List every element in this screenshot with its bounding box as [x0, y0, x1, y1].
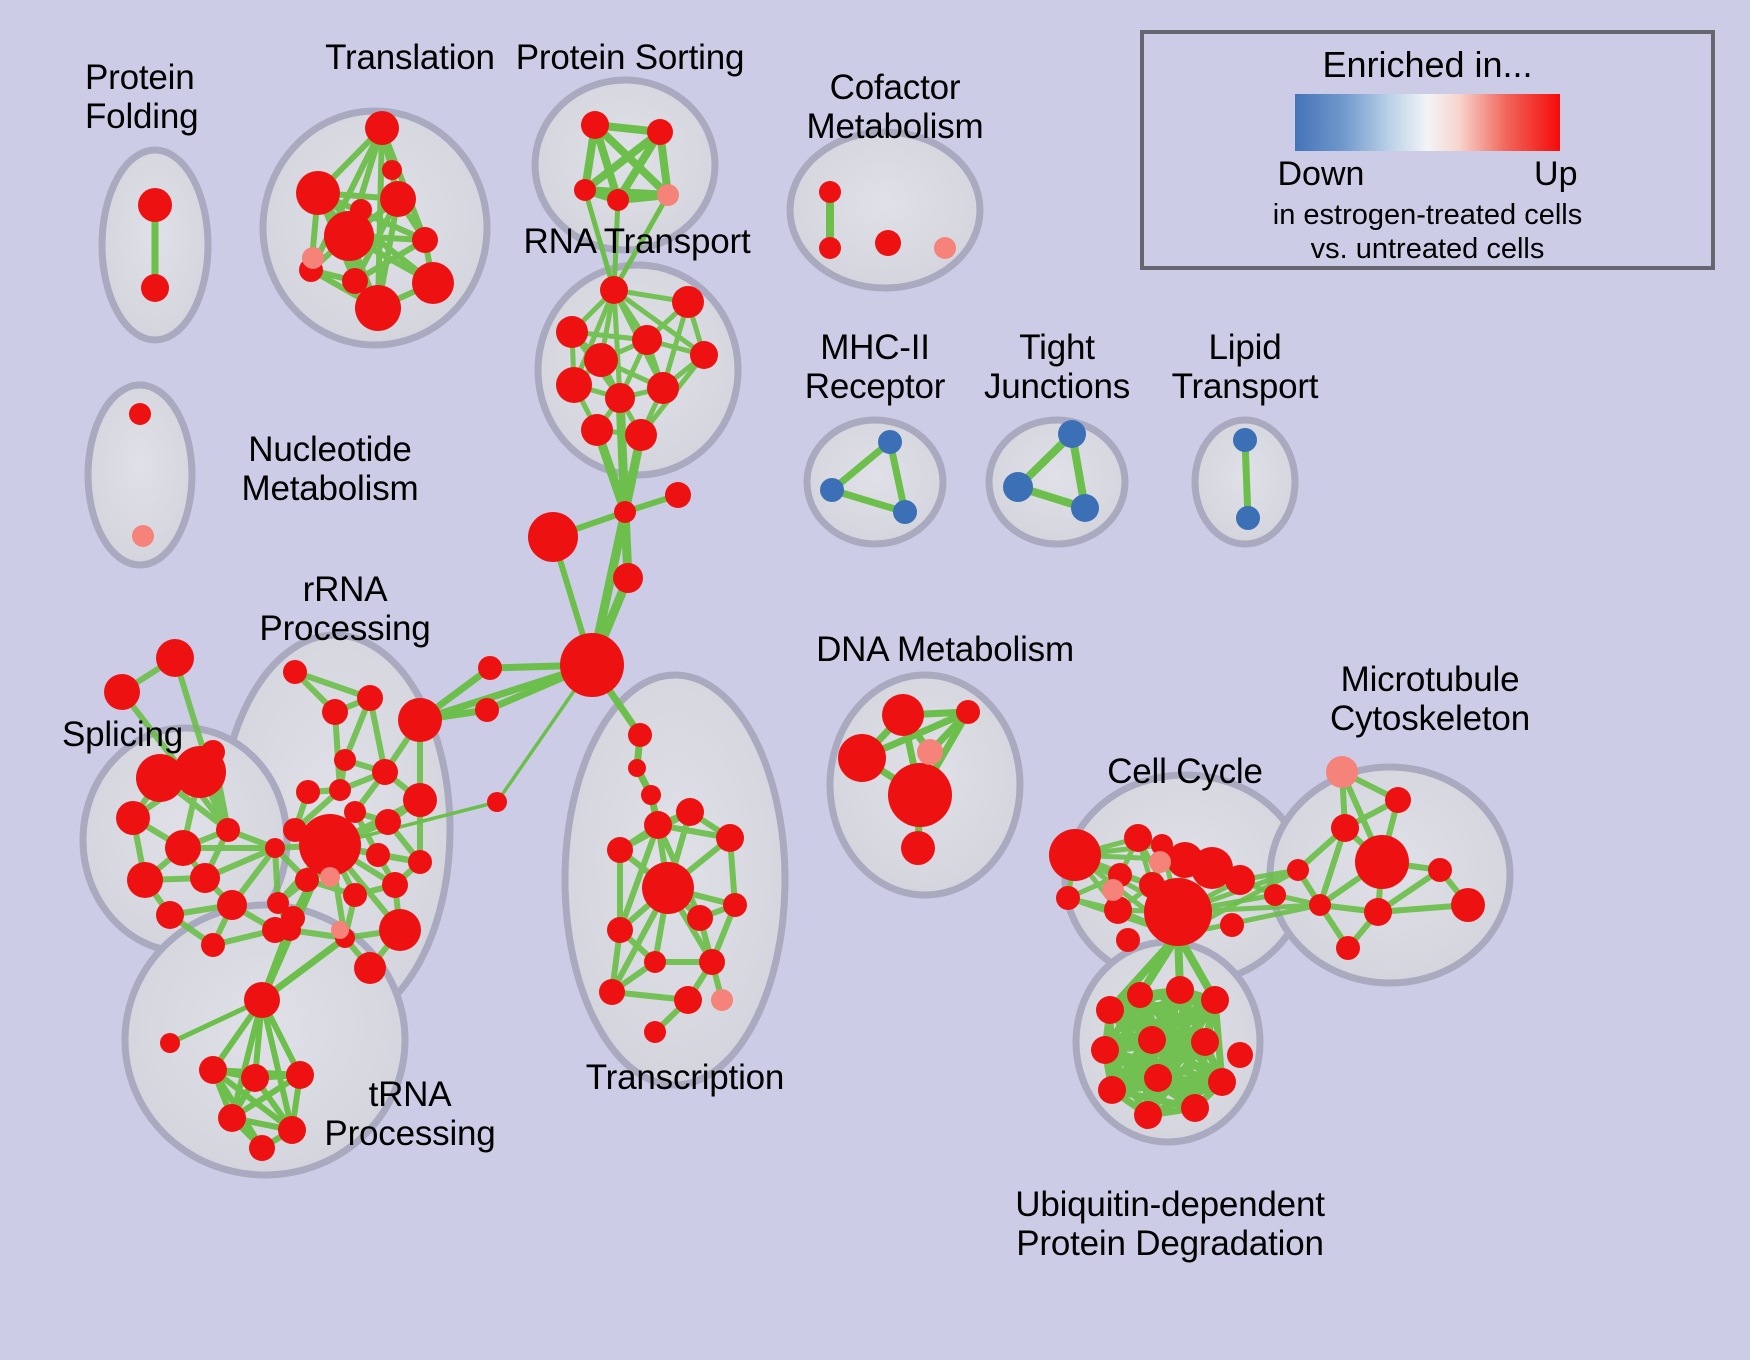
node [354, 952, 386, 984]
node [556, 367, 592, 403]
node [283, 660, 307, 684]
node [1355, 835, 1409, 889]
node [607, 917, 633, 943]
node [1102, 879, 1124, 901]
node [365, 111, 399, 145]
node [331, 921, 349, 939]
legend-panel: Enriched in... Down Up in estrogen-treat… [1140, 30, 1715, 270]
node [380, 181, 416, 217]
node [403, 783, 437, 817]
node [156, 639, 194, 677]
node [412, 262, 454, 304]
node [296, 780, 320, 804]
node [217, 890, 247, 920]
node [581, 111, 609, 139]
node [165, 830, 201, 866]
node [1385, 787, 1411, 813]
node [875, 230, 901, 256]
node [132, 525, 154, 547]
node [1091, 1036, 1119, 1064]
node [218, 1104, 246, 1132]
node [628, 723, 652, 747]
node [644, 1021, 666, 1043]
node [382, 160, 402, 180]
node [642, 862, 694, 914]
node [690, 341, 718, 369]
cluster-label-ubiquitin-protein-degradation: Ubiquitin-dependent Protein Degradation [985, 1185, 1355, 1263]
node [599, 979, 625, 1005]
cluster-label-cell-cycle: Cell Cycle [1085, 752, 1285, 791]
node [584, 343, 618, 377]
node [1166, 976, 1194, 1004]
node [607, 837, 633, 863]
node [375, 809, 401, 835]
cluster-label-rrna-processing: rRNA Processing [245, 570, 445, 648]
node [878, 430, 902, 454]
node [819, 181, 841, 203]
node [1451, 888, 1485, 922]
node [1144, 878, 1212, 946]
node [201, 933, 225, 957]
node [676, 798, 704, 826]
node [1124, 824, 1152, 852]
node [528, 512, 578, 562]
cluster-label-protein-sorting: Protein Sorting [505, 38, 755, 77]
node [934, 237, 956, 259]
node [1225, 865, 1255, 895]
node [716, 824, 744, 852]
node [475, 698, 499, 722]
node [302, 247, 324, 269]
node [628, 759, 646, 777]
node [487, 792, 507, 812]
node [199, 1056, 227, 1084]
node [1326, 756, 1358, 788]
cluster-label-microtubule-cytoskeleton: Microtubule Cytoskeleton [1295, 660, 1565, 738]
node [104, 674, 140, 710]
node [329, 779, 351, 801]
cluster-label-tight-junctions: Tight Junctions [967, 328, 1147, 406]
cluster-label-trna-processing: tRNA Processing [305, 1075, 515, 1153]
node [1227, 1042, 1253, 1068]
node [478, 656, 502, 680]
node [723, 893, 747, 917]
node [647, 372, 679, 404]
legend-title: Enriched in... [1322, 44, 1532, 86]
node [1236, 506, 1260, 530]
node [657, 184, 679, 206]
node [1127, 982, 1153, 1008]
legend-high-label: Up [1534, 155, 1577, 194]
node [917, 739, 943, 765]
node [127, 862, 163, 898]
node [614, 501, 636, 523]
node [556, 316, 588, 348]
node [1116, 928, 1140, 952]
node [1264, 884, 1286, 906]
network-canvas: Protein Folding Translation Protein Sort… [0, 0, 1750, 1360]
node [1233, 428, 1257, 452]
node [334, 749, 356, 771]
legend-endpoint-labels: Down Up [1278, 155, 1578, 194]
node [398, 698, 442, 742]
node [644, 811, 672, 839]
node [249, 1135, 275, 1161]
node [350, 199, 372, 221]
node [1049, 829, 1101, 881]
node [581, 414, 613, 446]
node [901, 831, 935, 865]
cluster-label-lipid-transport: Lipid Transport [1155, 328, 1335, 406]
node [160, 1033, 180, 1053]
node [1220, 913, 1244, 937]
node [241, 1064, 269, 1092]
node [1104, 896, 1132, 924]
node [1096, 996, 1124, 1024]
node [1134, 1101, 1162, 1129]
node [607, 189, 629, 211]
node [838, 734, 886, 782]
node [1056, 886, 1080, 910]
node [382, 872, 408, 898]
node [1191, 1028, 1219, 1056]
node [644, 951, 666, 973]
cluster-label-nucleotide-metabolism: Nucleotide Metabolism [205, 430, 455, 508]
node [1364, 898, 1392, 926]
node [216, 818, 240, 842]
node [156, 901, 184, 929]
node [190, 863, 220, 893]
node [1058, 420, 1086, 448]
node [600, 276, 628, 304]
node [641, 785, 661, 805]
node [1138, 1026, 1166, 1054]
node [560, 633, 624, 697]
node [1331, 814, 1359, 842]
legend-subtitle-line1: in estrogen-treated cells [1273, 198, 1583, 232]
node [672, 286, 704, 318]
node [296, 171, 340, 215]
node [265, 838, 285, 858]
node [366, 843, 390, 867]
node [665, 482, 691, 508]
node [1071, 494, 1099, 522]
node [1208, 1068, 1236, 1096]
node [116, 801, 150, 835]
node [355, 285, 401, 331]
cluster-label-transcription: Transcription [565, 1058, 805, 1097]
node [281, 906, 305, 930]
node [1309, 894, 1331, 916]
node [379, 909, 421, 951]
node [888, 763, 952, 827]
node [244, 982, 280, 1018]
node [343, 883, 367, 907]
node [129, 403, 151, 425]
node [1003, 472, 1033, 502]
node [882, 694, 924, 736]
node [820, 478, 844, 502]
cluster-label-protein-folding: Protein Folding [85, 58, 265, 136]
node [357, 685, 383, 711]
node [647, 119, 673, 145]
node [141, 274, 169, 302]
node [625, 419, 657, 451]
node [711, 989, 733, 1011]
hull-cofactor-metabolism [790, 132, 980, 288]
node [372, 759, 398, 785]
node [613, 563, 643, 593]
node [819, 237, 841, 259]
node [344, 801, 366, 823]
node [412, 227, 438, 253]
node [699, 949, 725, 975]
cluster-label-translation: Translation [295, 38, 525, 77]
cluster-label-cofactor-metabolism: Cofactor Metabolism [785, 68, 1005, 146]
node [1181, 1094, 1209, 1122]
node [605, 383, 635, 413]
node [574, 179, 596, 201]
node [1144, 1064, 1172, 1092]
legend-subtitle-line2: vs. untreated cells [1273, 232, 1583, 266]
node [956, 700, 980, 724]
legend-color-gradient-bar [1295, 94, 1560, 151]
legend-subtitle: in estrogen-treated cells vs. untreated … [1273, 198, 1583, 266]
node [278, 1116, 306, 1144]
cluster-label-rna-transport: RNA Transport [512, 222, 762, 261]
node [322, 699, 348, 725]
cluster-label-dna-metabolism: DNA Metabolism [805, 630, 1085, 669]
node [138, 188, 172, 222]
node [1428, 858, 1452, 882]
node [1149, 851, 1171, 873]
node [674, 986, 702, 1014]
node [320, 867, 340, 887]
node [1336, 936, 1360, 960]
node [1287, 859, 1309, 881]
node [408, 850, 432, 874]
node [1201, 986, 1229, 1014]
node [299, 814, 361, 876]
legend-low-label: Down [1278, 155, 1365, 194]
node [893, 500, 917, 524]
node [295, 868, 319, 892]
cluster-label-splicing: Splicing [62, 715, 232, 754]
node [687, 905, 713, 931]
cluster-label-mhc-ii-receptor: MHC-II Receptor [785, 328, 965, 406]
node [1098, 1076, 1126, 1104]
node [632, 325, 662, 355]
